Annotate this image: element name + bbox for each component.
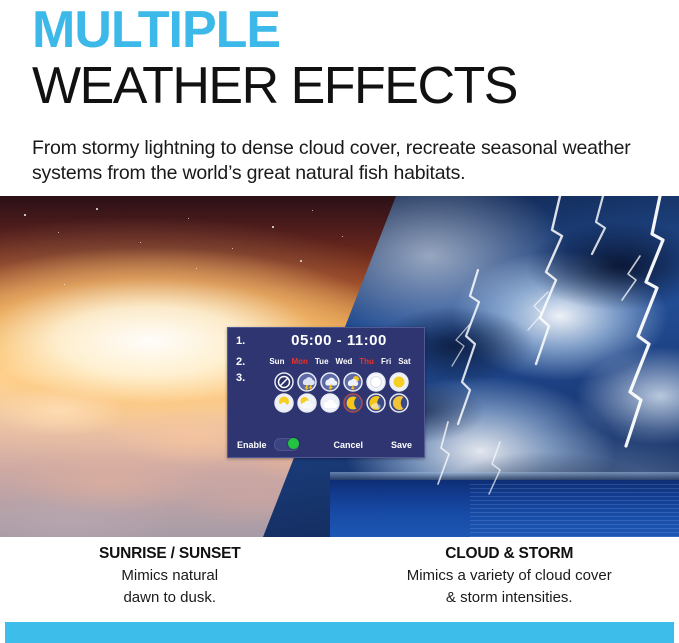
panel-footer: Enable Cancel Save [228,438,426,451]
page-root: MULTIPLE WEATHER EFFECTS From stormy lig… [0,0,679,643]
weather-icon-row-1[interactable] [262,372,420,392]
overcast-cloud-icon[interactable] [320,393,340,413]
hero-image-band: 1. 05:00 - 11:00 2. Sun Mon Tue Wed Thu … [0,196,679,537]
cancel-button[interactable]: Cancel [333,440,363,450]
weather-icon-row-2[interactable] [262,393,420,413]
caption-line2: dawn to dusk. [0,585,340,607]
toggle-knob [288,438,299,449]
caption-line1: Mimics natural [0,563,340,585]
none-disabled-icon[interactable] [274,372,294,392]
caption-line1: Mimics a variety of cloud cover [340,563,679,585]
day-fri[interactable]: Fri [381,357,391,366]
row-number-3: 3. [228,372,262,384]
time-range-value[interactable]: 05:00 - 11:00 [262,332,424,349]
row-number-2: 2. [228,356,262,368]
day-sat[interactable]: Sat [398,357,410,366]
partly-cloudy-night-icon[interactable] [366,393,386,413]
day-wed[interactable]: Wed [336,357,353,366]
page-title-line1: MULTIPLE [32,0,679,56]
day-tue[interactable]: Tue [315,357,329,366]
cloudy-sun-icon[interactable] [297,393,317,413]
day-mon[interactable]: Mon [291,357,307,366]
partly-sunny-icon[interactable] [274,393,294,413]
header: MULTIPLE WEATHER EFFECTS From stormy lig… [0,0,679,186]
sunny-icon[interactable] [389,372,409,392]
enable-label: Enable [228,440,267,450]
caption-line2: & storm intensities. [340,585,679,607]
row-number-1: 1. [228,335,262,347]
page-subtitle: From stormy lightning to dense cloud cov… [32,114,632,186]
save-button[interactable]: Save [391,440,412,450]
clear-ring-icon[interactable] [366,372,386,392]
day-sun[interactable]: Sun [269,357,284,366]
panel-row-time: 1. 05:00 - 11:00 [228,328,424,353]
day-selector[interactable]: Sun Mon Tue Wed Thu Fri Sat [262,357,424,366]
panel-row-weather-icons: 3. [228,370,424,413]
caption-cloud-storm: CLOUD & STORM Mimics a variety of cloud … [340,537,679,622]
day-thu[interactable]: Thu [359,357,374,366]
panel-row-days: 2. Sun Mon Tue Wed Thu Fri Sat [228,353,424,370]
thunderstorm-icon[interactable] [320,372,340,392]
star-field [0,196,396,326]
caption-heading: SUNRISE / SUNSET [0,545,340,563]
cloudy-night-icon[interactable] [389,393,409,413]
weather-schedule-panel[interactable]: 1. 05:00 - 11:00 2. Sun Mon Tue Wed Thu … [227,327,425,458]
caption-heading: CLOUD & STORM [340,545,679,563]
weather-icon-grid[interactable] [262,372,424,413]
footer-accent-bar [5,622,674,643]
clear-night-moon-icon[interactable] [343,393,363,413]
thunderstorm-heavy-icon[interactable] [297,372,317,392]
page-title-line2: WEATHER EFFECTS [32,56,679,114]
caption-row: SUNRISE / SUNSET Mimics natural dawn to … [0,537,679,622]
enable-toggle[interactable] [274,438,299,451]
caption-sunrise-sunset: SUNRISE / SUNSET Mimics natural dawn to … [0,537,340,622]
thunderstorm-light-icon[interactable] [343,372,363,392]
